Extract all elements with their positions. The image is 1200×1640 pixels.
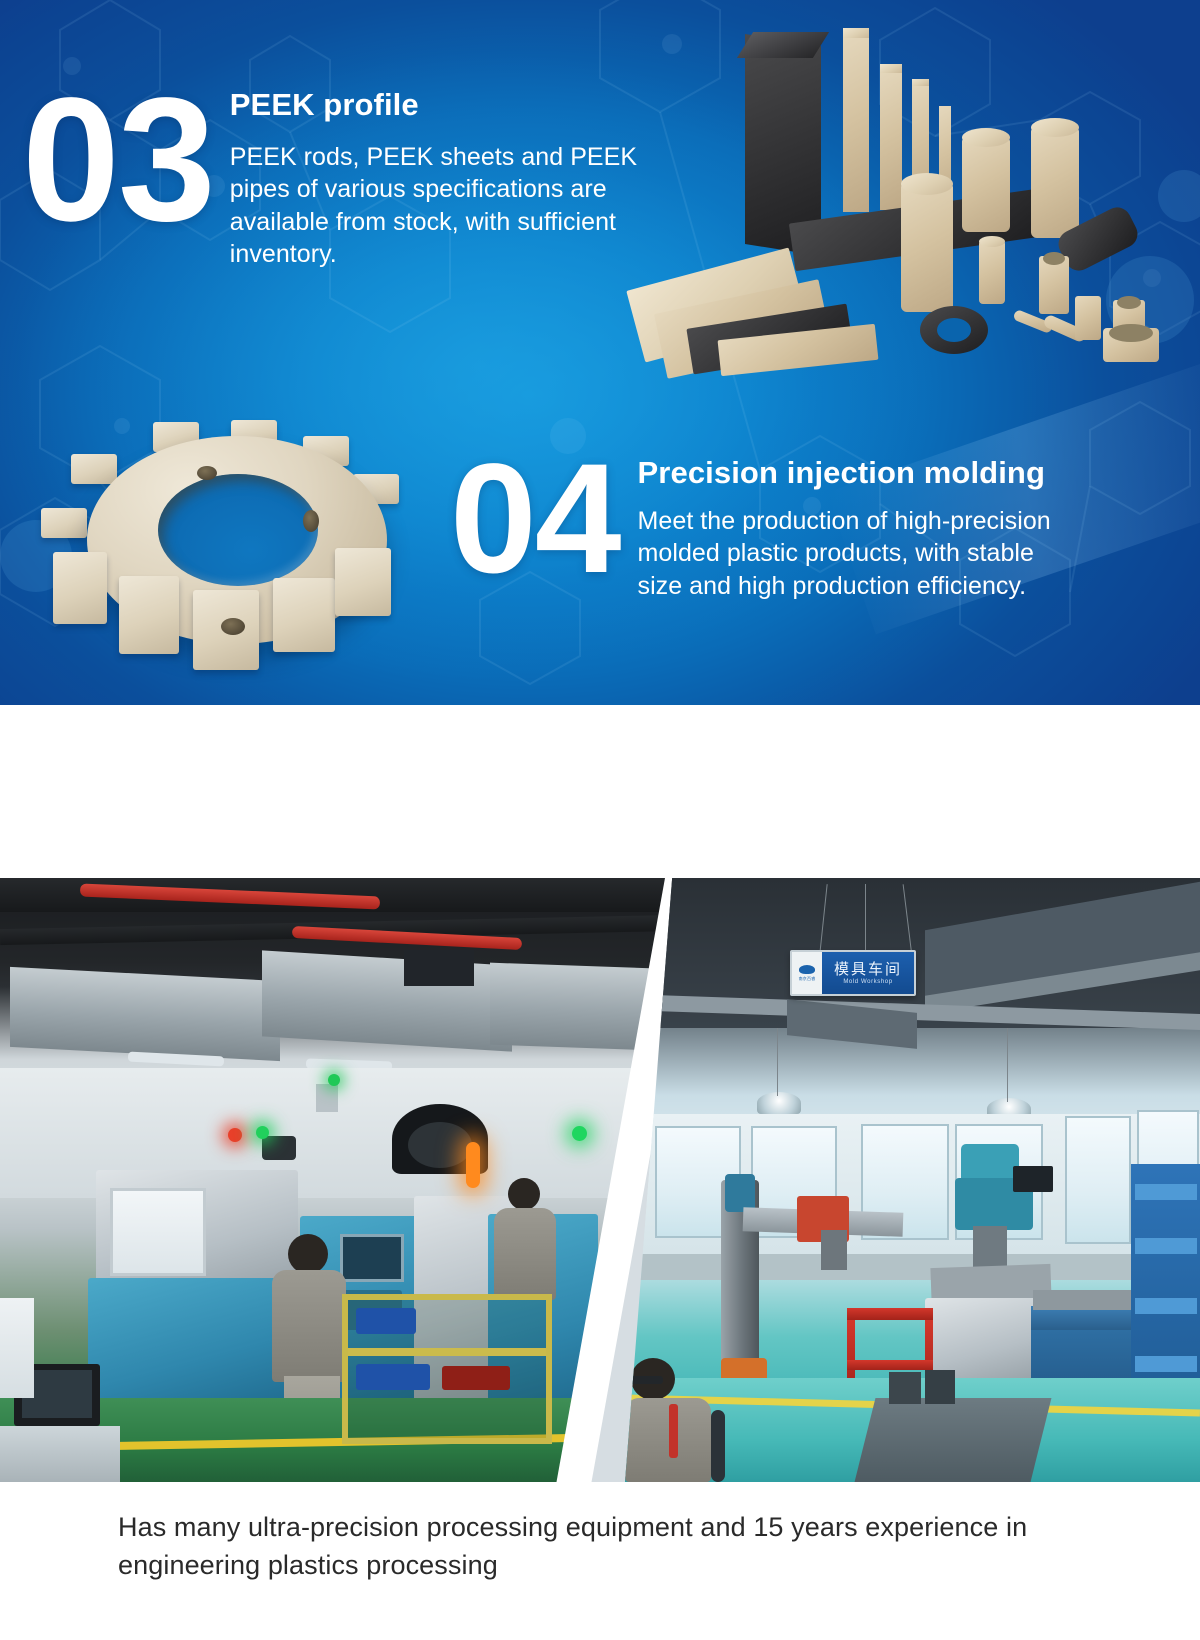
feature-title-03: PEEK profile	[230, 88, 660, 123]
feature-body-04: Meet the production of high-precision mo…	[638, 505, 1068, 603]
feature-title-04: Precision injection molding	[638, 456, 1068, 491]
feature-block-04: 04 Precision injection molding Meet the …	[450, 440, 1068, 602]
sign-english-text: Mold Workshop	[843, 979, 892, 985]
feature-body-03: PEEK rods, PEEK sheets and PEEK pipes of…	[230, 141, 660, 271]
sign-logo-text: 南京百睿	[799, 976, 816, 982]
sign-company-logo: 南京百睿	[792, 952, 822, 994]
mold-workshop-sign: 南京百睿 模具车间 Mold Workshop	[790, 950, 916, 996]
peek-stock-products-photo	[615, 10, 1195, 355]
mold-workshop-photo: 南京百睿 模具车间 Mold Workshop	[625, 878, 1200, 1482]
page-caption: Has many ultra-precision processing equi…	[0, 1482, 1200, 1640]
feature-number-03: 03	[22, 80, 214, 242]
logo-mark-icon	[799, 965, 815, 974]
caption-text: Has many ultra-precision processing equi…	[118, 1508, 1080, 1585]
product-feature-page: 03 PEEK profile PEEK rods, PEEK sheets a…	[0, 0, 1200, 1640]
factory-photo-strip: 南京百睿 模具车间 Mold Workshop	[0, 878, 1200, 1482]
feature-number-04: 04	[450, 448, 620, 592]
our-strengths-banner: Our strengths	[0, 705, 1200, 875]
hero-blue-panel: 03 PEEK profile PEEK rods, PEEK sheets a…	[0, 0, 1200, 705]
feature-block-03: 03 PEEK profile PEEK rods, PEEK sheets a…	[22, 76, 660, 271]
sign-chinese-text: 模具车间	[834, 961, 902, 978]
peek-gear-ring-photo	[35, 400, 435, 690]
